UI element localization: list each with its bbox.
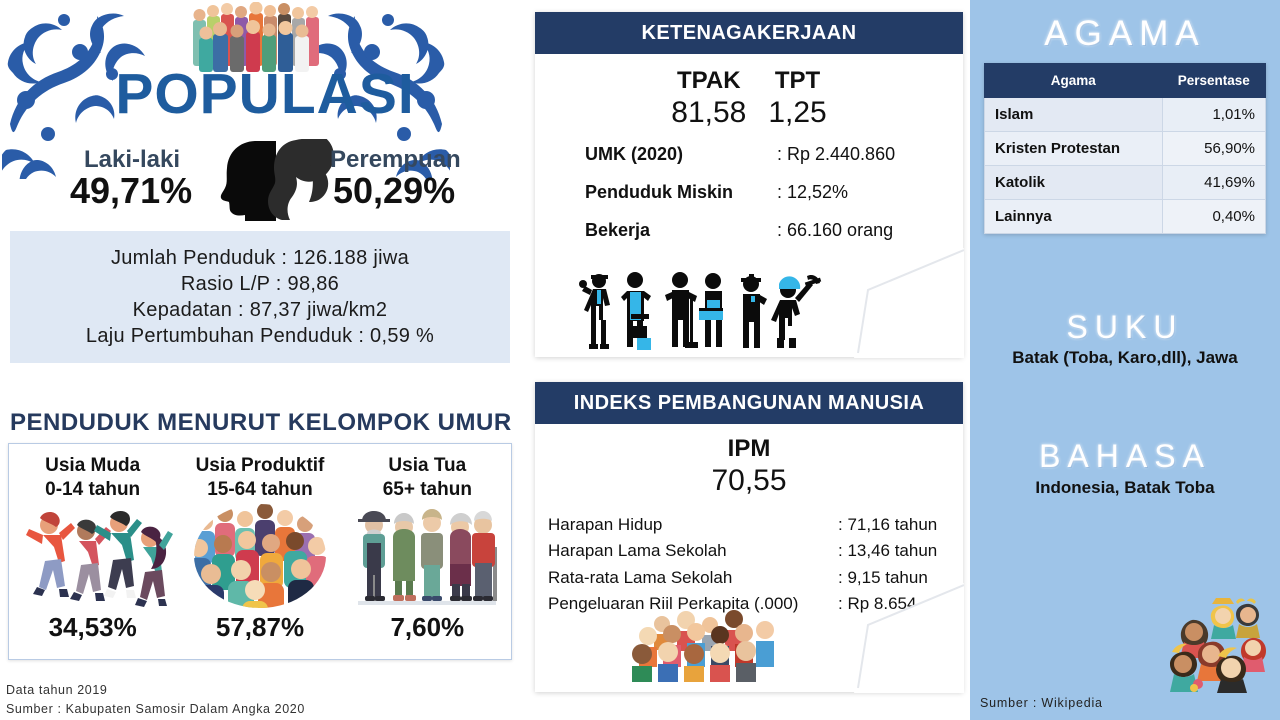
column-header-agama: Agama <box>985 64 1163 98</box>
age-group-range: 0-14 tahun <box>45 479 140 500</box>
religion-name: Katolik <box>985 166 1163 200</box>
age-groups-heading: PENDUDUK MENURUT KELOMPOK UMUR <box>10 409 512 437</box>
stat-line: Jumlah Penduduk : 126.188 jiwa <box>111 247 409 270</box>
list-item: Harapan Hidup : 71,16 tahun <box>548 512 963 538</box>
table-row: Islam 1,01% <box>985 98 1266 132</box>
language-title: BAHASA <box>970 438 1280 475</box>
footer-line-1: Data tahun 2019 <box>6 681 305 700</box>
table-row: Katolik 41,69% <box>985 166 1266 200</box>
employment-kpi-row: TPAK 81,58 TPT 1,25 <box>535 68 963 132</box>
age-group-percentage: 7,60% <box>390 612 464 643</box>
ipm-list: Harapan Hidup : 71,16 tahun Harapan Lama… <box>535 512 963 617</box>
item-value: : 12,52% <box>777 182 848 203</box>
item-value: : 13,46 tahun <box>838 538 937 564</box>
item-value: : Rp 8.654 <box>838 591 916 617</box>
item-label: Harapan Hidup <box>548 512 838 538</box>
elderly-people-icon <box>344 502 511 610</box>
religion-percentage: 56,90% <box>1162 132 1265 166</box>
footer-line-2: Sumber : Kabupaten Samosir Dalam Angka 2… <box>6 700 305 719</box>
speech-bubble-tail <box>854 248 964 358</box>
stat-line: Laju Pertumbuhan Penduduk : 0,59 % <box>86 325 434 348</box>
table-row: Lainnya 0,40% <box>985 200 1266 234</box>
column-header-persentase: Persentase <box>1162 64 1265 98</box>
religion-name: Kristen Protestan <box>985 132 1163 166</box>
item-label: UMK (2020) <box>585 144 777 165</box>
employment-list: UMK (2020) : Rp 2.440.860 Penduduk Miski… <box>535 144 963 241</box>
kpi-tpt: TPT 1,25 <box>768 68 826 132</box>
religion-name: Islam <box>985 98 1163 132</box>
kpi-name: IPM <box>535 436 963 462</box>
list-item: Penduduk Miskin : 12,52% <box>585 182 963 203</box>
young-people-icon <box>9 502 176 610</box>
kpi-name: TPT <box>768 68 826 94</box>
community-crowd-icon <box>620 610 810 682</box>
age-group-young: Usia Muda 0-14 tahun <box>9 444 176 659</box>
religion-percentage: 41,69% <box>1162 166 1265 200</box>
workers-illustration-icon <box>573 264 823 354</box>
table-row: Kristen Protestan 56,90% <box>985 132 1266 166</box>
kpi-tpak: TPAK 81,58 <box>671 68 746 132</box>
middle-column: KETENAGAKERJAAN TPAK 81,58 TPT 1,25 UMK … <box>530 0 970 720</box>
stat-line: Kepadatan : 87,37 jiwa/km2 <box>133 299 388 322</box>
demographics-column: AGAMA Agama Persentase Islam 1,01% Krist… <box>970 0 1280 720</box>
male-percentage: 49,71% <box>70 170 192 212</box>
ipm-card: INDEKS PEMBANGUNAN MANUSIA IPM 70,55 Har… <box>535 382 963 692</box>
item-label: Harapan Lama Sekolah <box>548 538 838 564</box>
population-column: POPULASI Laki-laki 49,71% Perempuan 50,2… <box>0 0 530 720</box>
age-group-percentage: 57,87% <box>216 612 304 643</box>
productive-crowd-icon <box>176 502 343 610</box>
item-label: Rata-rata Lama Sekolah <box>548 565 838 591</box>
wikipedia-source-note: Sumber : Wikipedia <box>980 696 1103 710</box>
list-item: UMK (2020) : Rp 2.440.860 <box>585 144 963 165</box>
footer-source-note: Data tahun 2019 Sumber : Kabupaten Samos… <box>6 681 305 719</box>
ipm-header: INDEKS PEMBANGUNAN MANUSIA <box>535 382 963 424</box>
kpi-value: 1,25 <box>768 94 826 132</box>
page-title: POPULASI <box>0 66 530 123</box>
item-value: : Rp 2.440.860 <box>777 144 895 165</box>
religion-title: AGAMA <box>970 14 1280 54</box>
religion-name: Lainnya <box>985 200 1163 234</box>
ipm-kpi: IPM 70,55 <box>535 436 963 500</box>
age-group-range: 65+ tahun <box>383 479 472 500</box>
religion-percentage: 0,40% <box>1162 200 1265 234</box>
ethnicity-value: Batak (Toba, Karo,dll), Jawa <box>970 348 1280 368</box>
item-value: : 71,16 tahun <box>838 512 937 538</box>
item-label: Bekerja <box>585 220 777 241</box>
age-group-title: Usia Muda <box>45 455 140 476</box>
table-header-row: Agama Persentase <box>985 64 1266 98</box>
age-group-title: Usia Produktif <box>196 455 325 476</box>
age-group-range: 15-64 tahun <box>207 479 313 500</box>
item-value: : 9,15 tahun <box>838 565 928 591</box>
religion-percentage: 1,01% <box>1162 98 1265 132</box>
female-silhouette-icon <box>266 139 338 221</box>
kpi-value: 70,55 <box>535 462 963 500</box>
female-percentage: 50,29% <box>333 170 455 212</box>
employment-card: KETENAGAKERJAAN TPAK 81,58 TPT 1,25 UMK … <box>535 12 963 357</box>
ethnicity-title: SUKU <box>970 309 1280 346</box>
list-item: Harapan Lama Sekolah : 13,46 tahun <box>548 538 963 564</box>
population-stats-box: Jumlah Penduduk : 126.188 jiwa Rasio L/P… <box>10 231 510 363</box>
kpi-name: TPAK <box>671 68 746 94</box>
age-group-elderly: Usia Tua 65+ tahun <box>344 444 511 659</box>
language-value: Indonesia, Batak Toba <box>970 478 1280 498</box>
item-value: : 66.160 orang <box>777 220 893 241</box>
age-group-percentage: 34,53% <box>49 612 137 643</box>
traditional-costumes-icon <box>1148 598 1266 693</box>
employment-header: KETENAGAKERJAAN <box>535 12 963 54</box>
religion-table: Agama Persentase Islam 1,01% Kristen Pro… <box>984 63 1266 234</box>
age-group-productive: Usia Produktif 15-64 tahun <box>176 444 343 659</box>
stat-line: Rasio L/P : 98,86 <box>181 273 339 296</box>
list-item: Rata-rata Lama Sekolah : 9,15 tahun <box>548 565 963 591</box>
age-group-title: Usia Tua <box>388 455 466 476</box>
age-groups-box: Usia Muda 0-14 tahun <box>8 443 512 660</box>
kpi-value: 81,58 <box>671 94 746 132</box>
item-label: Penduduk Miskin <box>585 182 777 203</box>
list-item: Bekerja : 66.160 orang <box>585 220 963 241</box>
